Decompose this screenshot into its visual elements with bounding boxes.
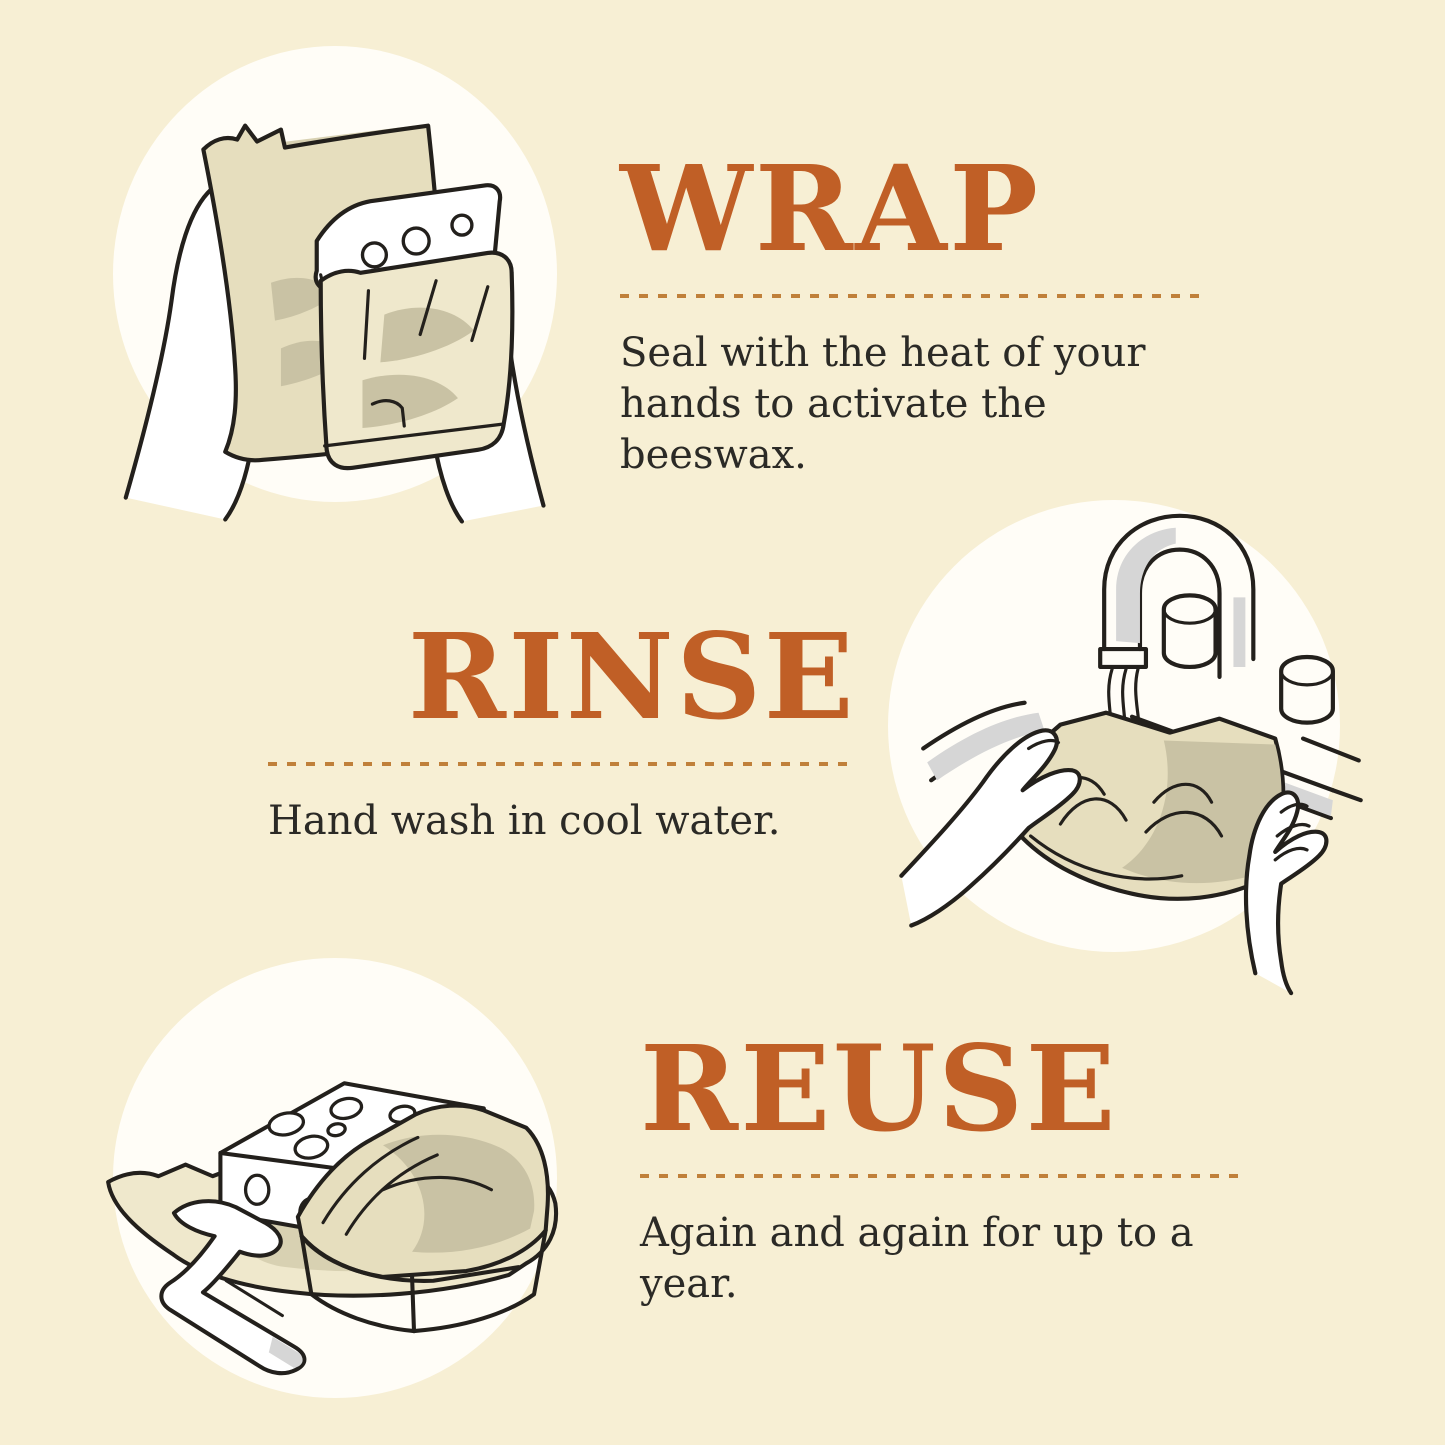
cheese-block-wrapped-with-knife-illustration xyxy=(113,958,557,1398)
step-wrap-body: Seal with the heat of your hands to acti… xyxy=(620,328,1220,482)
step-wrap-text-column: WRAP Seal with the heat of your hands to… xyxy=(620,150,1260,482)
step-wrap-divider xyxy=(620,294,1205,298)
step-rinse-text-column: RINSE Hand wash in cool water. xyxy=(268,618,868,847)
step-rinse-body: Hand wash in cool water. xyxy=(268,796,868,847)
step-rinse-title: RINSE xyxy=(268,618,856,736)
hands-wrapping-cheese-illustration xyxy=(113,46,557,502)
hands-wrapping-cheese-artwork xyxy=(86,28,583,530)
hands-washing-wrap-artwork xyxy=(861,482,1367,979)
hands-washing-wrap-under-faucet-illustration xyxy=(888,500,1340,952)
step-reuse-body: Again and again for up to a year. xyxy=(640,1208,1240,1310)
beeswax-wrap-care-infographic: WRAP Seal with the heat of your hands to… xyxy=(0,0,1445,1445)
cheese-block-wrapped-artwork xyxy=(86,940,583,1424)
step-reuse-divider xyxy=(640,1174,1240,1178)
step-wrap-title: WRAP xyxy=(620,150,1260,268)
step-rinse-divider xyxy=(268,762,856,766)
step-reuse-title: REUSE xyxy=(640,1030,1280,1148)
step-reuse-text-column: REUSE Again and again for up to a year. xyxy=(640,1030,1280,1310)
